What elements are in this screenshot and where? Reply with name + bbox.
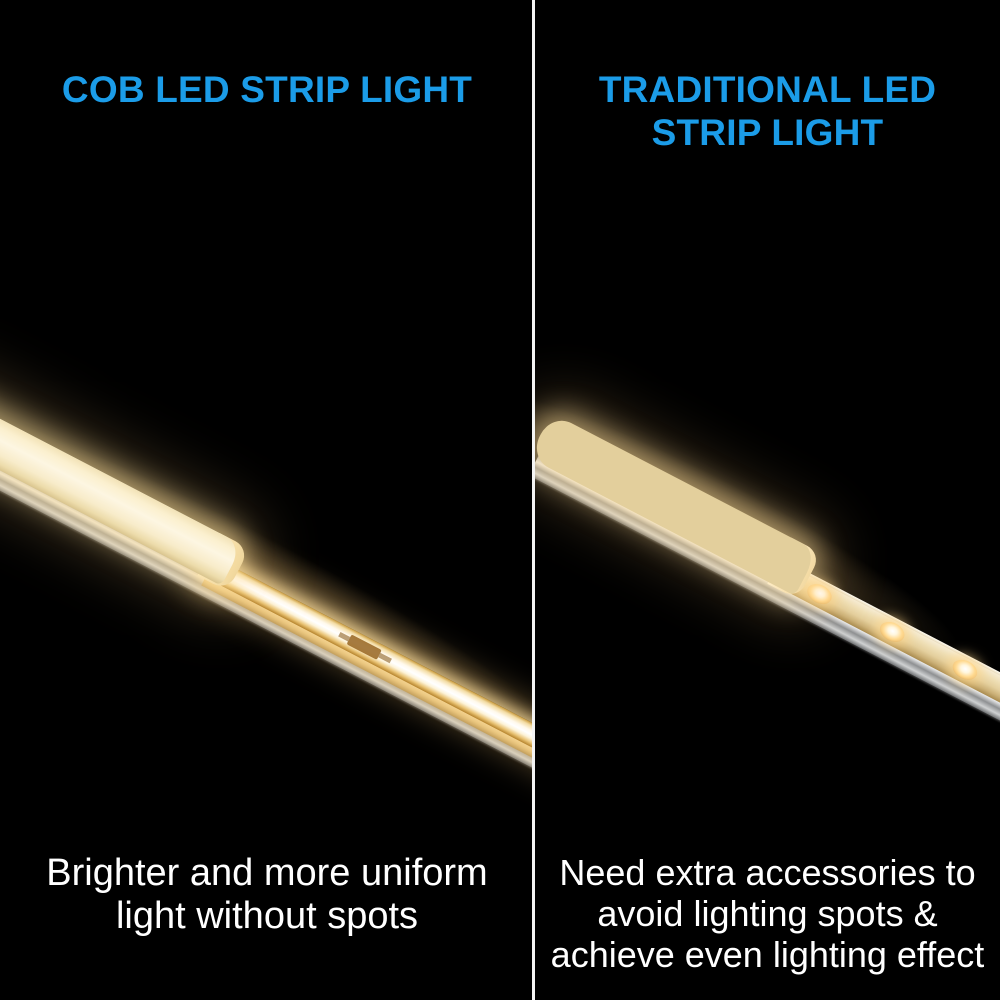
cob-tape-pcb (201, 574, 534, 802)
panel-cob-led: COB LED STRIP LIGHT Brighter and more un… (0, 0, 534, 1000)
caption-traditional-led: Need extra accessories to avoid lighting… (535, 852, 1000, 975)
cob-led-strip-product (0, 359, 534, 822)
heading-traditional-led: TRADITIONAL LED STRIP LIGHT (535, 69, 1000, 155)
cob-glow-halo (0, 322, 534, 819)
heading-cob-led: COB LED STRIP LIGHT (0, 69, 534, 112)
comparison-infographic: COB LED STRIP LIGHT Brighter and more un… (0, 0, 1000, 1000)
panel-divider (532, 0, 535, 1000)
traditional-diffuser-cover (535, 413, 818, 596)
panel-traditional-led: TRADITIONAL LED STRIP LIGHT Need extra a… (535, 0, 1000, 1000)
traditional-led-strip-product (535, 422, 1000, 770)
caption-cob-led: Brighter and more uniform light without … (0, 852, 534, 939)
